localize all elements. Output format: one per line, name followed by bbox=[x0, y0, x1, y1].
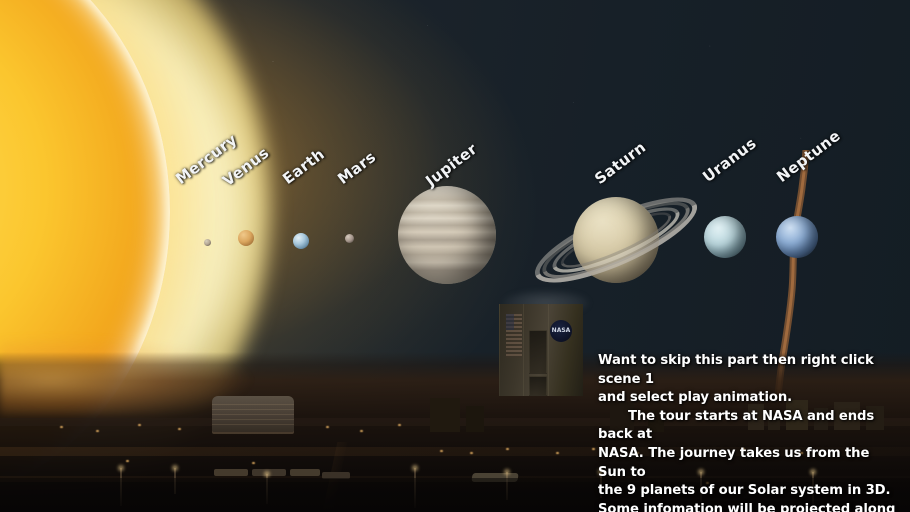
nasa-logo-icon: NASA bbox=[550, 320, 572, 342]
planet-mercury[interactable] bbox=[204, 239, 211, 246]
nasa-logo-text: NASA bbox=[552, 328, 571, 334]
caption-line-4: NASA. The journey takes us from the Sun … bbox=[598, 445, 898, 482]
caption-line-2: and select play animation. bbox=[598, 389, 898, 408]
planet-earth[interactable] bbox=[293, 233, 309, 249]
planet-uranus[interactable] bbox=[704, 216, 746, 258]
scene-caption: Want to skip this part then right click … bbox=[598, 352, 898, 512]
caption-line-6: Some infomation will be projected along … bbox=[598, 501, 898, 512]
nasa-vab-building[interactable]: NASA bbox=[499, 304, 583, 396]
planet-jupiter[interactable] bbox=[398, 186, 496, 284]
planet-venus[interactable] bbox=[238, 230, 254, 246]
caption-line-5: the 9 planets of our Solar system in 3D. bbox=[598, 482, 898, 501]
vab-door bbox=[529, 330, 547, 374]
caption-line-3: The tour starts at NASA and ends back at bbox=[598, 408, 898, 445]
planet-mars[interactable] bbox=[345, 234, 354, 243]
caption-line-1: Want to skip this part then right click … bbox=[598, 352, 898, 389]
solar-system-scene[interactable]: Mercury Venus Earth Mars Jupiter Saturn … bbox=[0, 0, 910, 512]
flag-canton bbox=[506, 314, 514, 330]
vab-door bbox=[529, 376, 547, 396]
planet-neptune[interactable] bbox=[776, 216, 818, 258]
